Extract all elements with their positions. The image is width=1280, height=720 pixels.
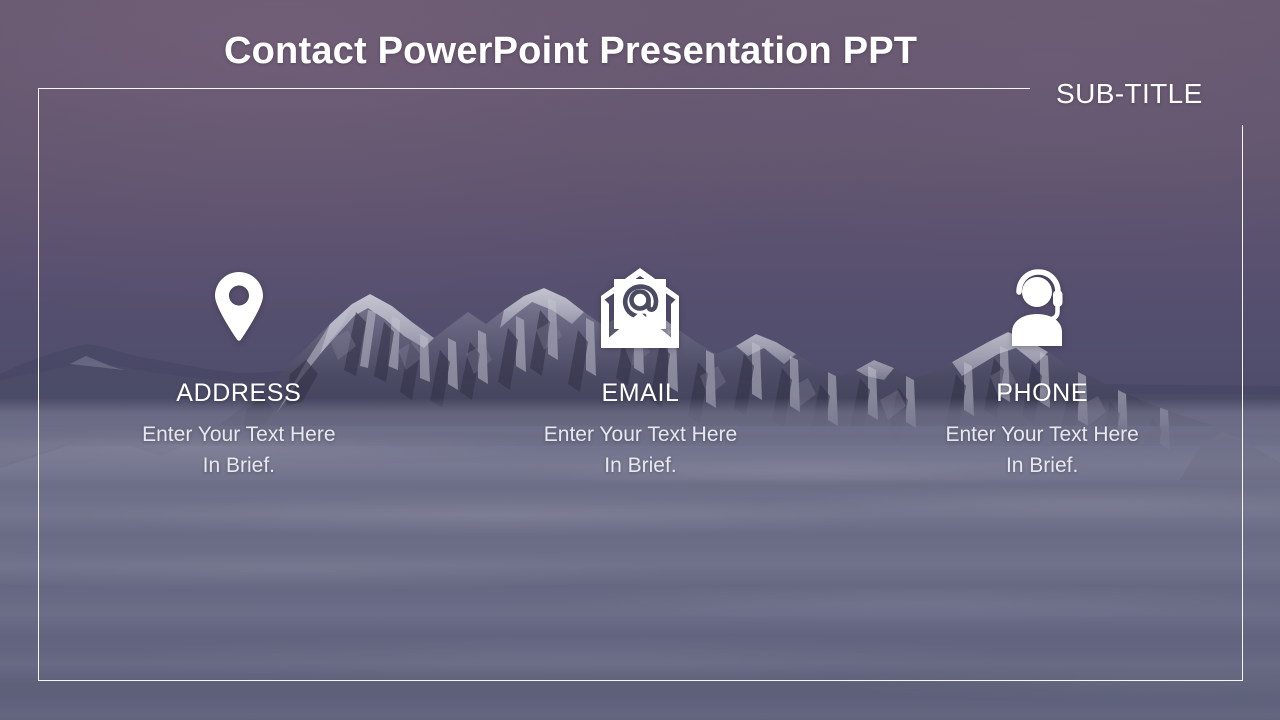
address-label: ADDRESS [176,380,301,408]
open-envelope-at-icon [599,266,681,348]
slide-title: Contact PowerPoint Presentation PPT [224,30,917,74]
phone-description: Enter Your Text Here In Brief. [945,419,1138,483]
contact-columns: ADDRESS Enter Your Text Here In Brief. [38,262,1243,482]
address-description-line1: Enter Your Text Here [142,419,335,451]
frame-border-bottom [38,680,1243,681]
contact-item-phone[interactable]: PHONE Enter Your Text Here In Brief. [841,262,1243,482]
email-description: Enter Your Text Here In Brief. [544,419,737,483]
headset-support-agent-icon [1007,268,1077,346]
slide-subtitle: SUB-TITLE [1056,78,1203,110]
contact-item-address[interactable]: ADDRESS Enter Your Text Here In Brief. [38,262,440,482]
email-icon-wrap [599,262,681,352]
address-description: Enter Your Text Here In Brief. [142,419,335,483]
address-description-line2: In Brief. [142,450,335,482]
email-description-line2: In Brief. [544,450,737,482]
email-label: EMAIL [601,380,679,408]
presentation-slide: Contact PowerPoint Presentation PPT SUB-… [0,0,1280,720]
phone-icon-wrap [1007,262,1077,352]
phone-description-line2: In Brief. [945,450,1138,482]
map-pin-icon [215,272,263,342]
frame-border-top [38,88,1030,89]
phone-label: PHONE [996,380,1088,408]
phone-description-line1: Enter Your Text Here [945,419,1138,451]
contact-item-email[interactable]: EMAIL Enter Your Text Here In Brief. [440,262,842,482]
address-icon-wrap [215,262,263,352]
email-description-line1: Enter Your Text Here [544,419,737,451]
